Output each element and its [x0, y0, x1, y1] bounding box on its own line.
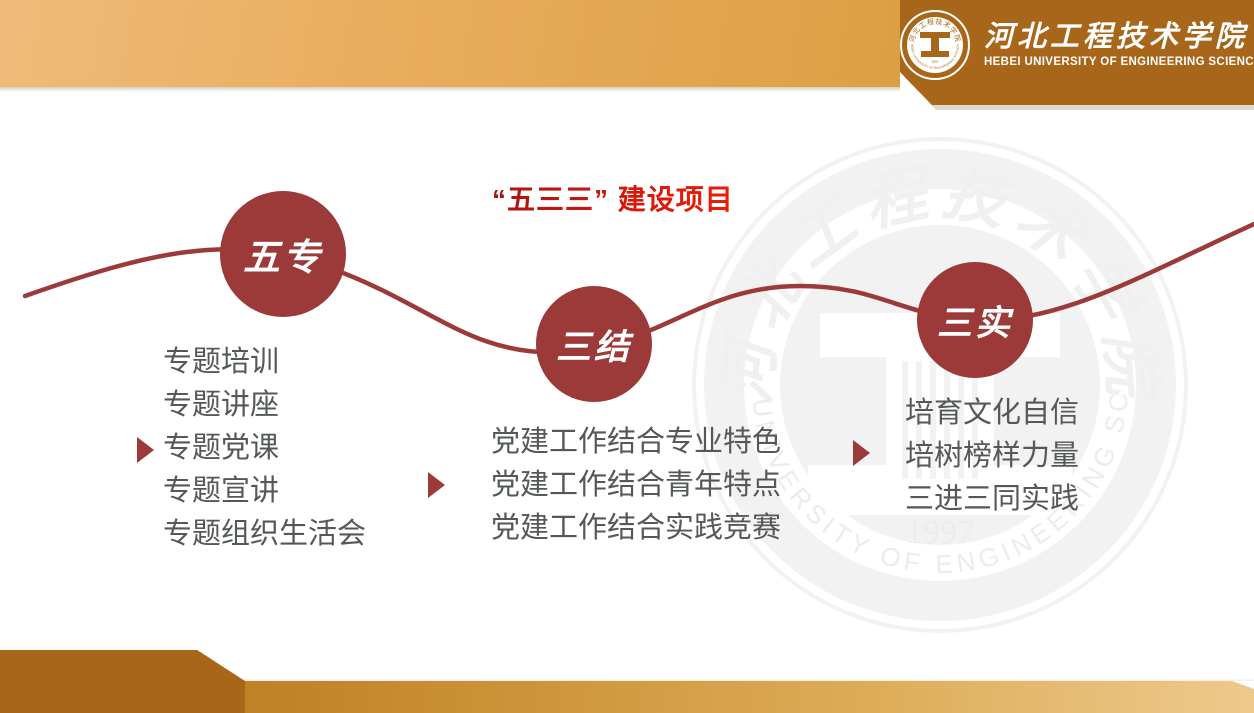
flow-node-label: 三实: [937, 295, 1013, 346]
arrow-right-icon-1: [137, 437, 154, 463]
list-item: 三进三同实践: [905, 478, 1079, 521]
slide-canvas: 1997 HEBEI UNIVERSITY OF ENGINEERING SCI…: [0, 0, 1254, 713]
list-item: 专题讲座: [163, 384, 366, 427]
seal-year-text: 1997: [931, 60, 939, 64]
list-item: 专题培训: [163, 341, 366, 384]
list-item: 培育文化自信: [905, 392, 1079, 435]
page-title: “五三三” 建设项目: [492, 178, 734, 218]
flow-node-label: 三结: [556, 319, 632, 370]
list-item: 党建工作结合专业特色: [491, 421, 781, 464]
university-seal-icon: 河北工程技术学院 HEBEI UNIVERSITY OF ENGINEERING…: [900, 10, 970, 80]
flow-node-label: 五专: [243, 227, 323, 281]
brand-name-en: HEBEI UNIVERSITY OF ENGINEERING SCIENCE: [984, 56, 1254, 68]
flow-items-wuzhuan: 专题培训 专题讲座 专题党课 专题宣讲 专题组织生活会: [163, 341, 366, 556]
list-item: 党建工作结合实践竞赛: [491, 507, 781, 550]
list-item: 党建工作结合青年特点: [491, 464, 781, 507]
header-band-left: [0, 0, 900, 87]
flow-node-wuzhuan[interactable]: 五专: [220, 191, 346, 317]
flow-node-sanjie[interactable]: 三结: [536, 286, 652, 402]
footer-band-left: [0, 650, 245, 713]
brand-name-cn: 河北工程技术学院: [984, 22, 1254, 53]
flow-items-sanshi: 培育文化自信 培树榜样力量 三进三同实践: [905, 392, 1079, 521]
list-item: 专题组织生活会: [163, 513, 366, 556]
list-item: 专题宣讲: [163, 470, 366, 513]
arrow-right-icon-3: [853, 440, 870, 466]
flow-items-sanjie: 党建工作结合专业特色 党建工作结合青年特点 党建工作结合实践竞赛: [491, 421, 781, 550]
brand-lockup: 河北工程技术学院 HEBEI UNIVERSITY OF ENGINEERING…: [900, 8, 1254, 82]
seal-emblem-icon: [920, 30, 950, 60]
list-item: 培树榜样力量: [905, 435, 1079, 478]
arrow-right-icon-2: [428, 472, 445, 498]
header-left-shadow: [0, 87, 900, 92]
list-item: 专题党课: [163, 427, 366, 470]
flow-node-sanshi[interactable]: 三实: [917, 262, 1033, 378]
